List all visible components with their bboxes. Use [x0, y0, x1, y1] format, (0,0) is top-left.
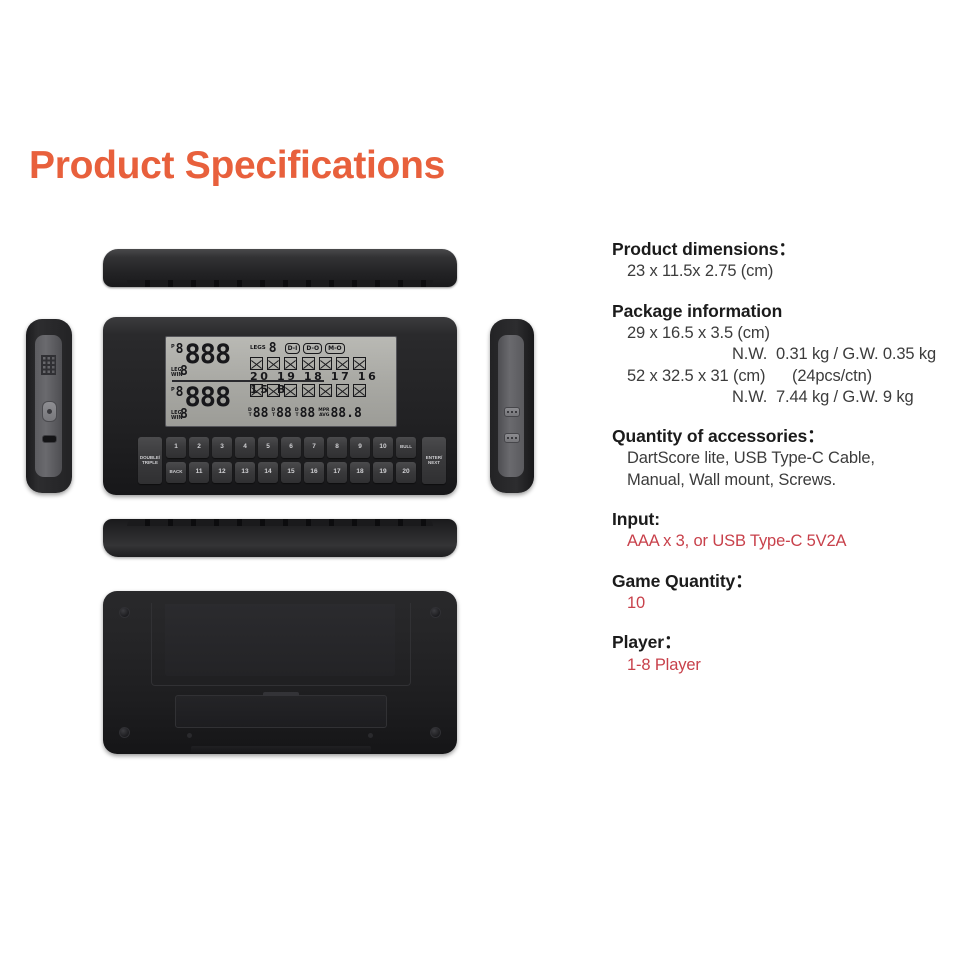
right-side-inset-panel: [498, 335, 524, 477]
lcd-mode-mo: M-O: [325, 343, 345, 354]
lcd-stat-2-value: 88: [276, 407, 292, 420]
lcd-stat-3-value: 88: [300, 407, 316, 420]
x-mark-icon: [284, 384, 297, 397]
device-image-gallery: P 8 888 LEG WIN 8 LEGS 8 D-I D-O M-O: [0, 0, 600, 960]
power-button: [42, 401, 57, 422]
lcd-mode-di: D-I: [285, 343, 301, 354]
key-16[interactable]: 16: [304, 462, 324, 483]
x-mark-icon: [336, 357, 349, 370]
x-mark-icon: [267, 384, 280, 397]
lcd-average: MPR AVG 88.8: [318, 407, 362, 420]
key-13[interactable]: 13: [235, 462, 255, 483]
lcd-stat-3-labels: D T: [295, 409, 299, 418]
x-mark-icon: [284, 357, 297, 370]
key-enter-next[interactable]: ENTER/ NEXT: [422, 437, 446, 484]
lcd-player2-legwin-value: 8: [180, 408, 188, 421]
x-mark-icon: [319, 384, 332, 397]
screw-icon: [430, 607, 441, 618]
key-19[interactable]: 19: [373, 462, 393, 483]
spec-heading: Quantity of accessories：: [612, 425, 960, 448]
lcd-player1-tag: P: [171, 345, 175, 350]
spec-heading: Product dimensions：: [612, 238, 960, 261]
lcd-legs-group: LEGS 8 D-I D-O M-O: [250, 342, 345, 355]
key-6[interactable]: 6: [281, 437, 301, 458]
key-18[interactable]: 18: [350, 462, 370, 483]
back-tab-icon: [368, 733, 373, 738]
spec-block: Player：1-8 Player: [612, 631, 960, 676]
spec-value: AAA x 3, or USB Type-C 5V2A: [612, 531, 960, 552]
lcd-num-17: 17: [331, 370, 352, 383]
lcd-player1-legwin-row: LEG WIN 8: [171, 365, 188, 379]
side-button-upper: [504, 407, 520, 417]
lcd-player2-score: 888: [185, 384, 231, 411]
spec-block: Quantity of accessories：DartScore lite, …: [612, 425, 960, 491]
key-15[interactable]: 15: [281, 462, 301, 483]
key-3[interactable]: 3: [212, 437, 232, 458]
side-button-lower: [504, 433, 520, 443]
key-4[interactable]: 4: [235, 437, 255, 458]
x-mark-icon: [250, 384, 263, 397]
lcd-stat-3: D T 88: [295, 407, 315, 420]
lcd-stat-1-value: 88: [253, 407, 269, 420]
lcd-average-value: 88.8: [330, 407, 361, 420]
lcd-average-labels: MPR AVG: [318, 409, 329, 418]
key-14[interactable]: 14: [258, 462, 278, 483]
key-5[interactable]: 5: [258, 437, 278, 458]
spec-value: N.W. 7.44 kg / G.W. 9 kg: [612, 387, 960, 408]
screw-icon: [119, 727, 130, 738]
left-side-inset-panel: [35, 335, 62, 477]
x-mark-icon: [336, 384, 349, 397]
x-mark-icon: [353, 357, 366, 370]
lcd-player1-legwin-value: 8: [180, 365, 188, 378]
spec-value: N.W. 0.31 kg / G.W. 0.35 kg: [612, 344, 960, 365]
key-back[interactable]: BACK: [166, 462, 186, 483]
spec-value: 10: [612, 593, 960, 614]
key-11[interactable]: 11: [189, 462, 209, 483]
lcd-stat-2-labels: D T: [271, 409, 275, 418]
x-mark-icon: [353, 384, 366, 397]
lcd-legs-value: 8: [269, 342, 277, 355]
x-mark-icon: [250, 357, 263, 370]
x-mark-icon: [302, 384, 315, 397]
key-10[interactable]: 10: [373, 437, 393, 458]
spec-value: 29 x 16.5 x 3.5 (cm): [612, 323, 960, 344]
back-tab-icon: [187, 733, 192, 738]
device-left-side-view: [26, 319, 72, 493]
spec-block: Input:AAA x 3, or USB Type-C 5V2A: [612, 508, 960, 553]
lcd-num-16: 16: [358, 370, 379, 383]
device-front-view: P 8 888 LEG WIN 8 LEGS 8 D-I D-O M-O: [103, 317, 457, 495]
lcd-player2-tag: P: [171, 388, 175, 393]
device-bottom-edge-view: [103, 519, 457, 557]
speaker-grille-icon: [41, 355, 56, 375]
wall-mount-slot: [191, 746, 371, 754]
lcd-stats-row: D T 88 D T 88 D T: [248, 407, 365, 420]
lcd-stat-1-label-bottom: T: [249, 413, 252, 418]
lcd-stat-2: D T 88: [271, 407, 291, 420]
spec-heading: Game Quantity：: [612, 570, 960, 593]
lcd-player2-number: 8: [176, 386, 184, 399]
screw-icon: [430, 727, 441, 738]
spec-value: 1-8 Player: [612, 655, 960, 676]
spec-block: Package information29 x 16.5 x 3.5 (cm)N…: [612, 300, 960, 409]
x-mark-icon: [302, 357, 315, 370]
button-texture-icon: [507, 411, 517, 413]
key-8[interactable]: 8: [327, 437, 347, 458]
spec-heading: Package information: [612, 300, 960, 323]
key-double-triple[interactable]: DOUBLE/ TRIPLE: [138, 437, 162, 484]
lcd-stat-3-label-bottom: T: [295, 413, 298, 418]
lcd-player2-legwin-row: LEG WIN 8: [171, 408, 188, 422]
lcd-screen: P 8 888 LEG WIN 8 LEGS 8 D-I D-O M-O: [165, 336, 397, 427]
spec-heading: Player：: [612, 631, 960, 654]
key-1[interactable]: 1: [166, 437, 186, 458]
lcd-player1-legwin-tag: LEG WIN: [171, 368, 180, 379]
lcd-xmark-row-bottom: [250, 384, 366, 397]
key-bull[interactable]: BULL: [396, 437, 416, 458]
lcd-player2-legwin-tag: LEG WIN: [171, 411, 180, 422]
device-back-view: [103, 591, 457, 754]
lcd-player1-number: 8: [176, 343, 184, 356]
usb-type-c-port-icon: [42, 435, 57, 443]
screw-icon: [119, 607, 130, 618]
key-17[interactable]: 17: [327, 462, 347, 483]
lcd-stat-1: D T 88: [248, 407, 268, 420]
lcd-mode-do: D-O: [303, 343, 322, 354]
bottom-edge-ribs: [127, 519, 433, 526]
spec-value: 23 x 11.5x 2.75 (cm): [612, 261, 960, 282]
key-9[interactable]: 9: [350, 437, 370, 458]
top-edge-ribs: [127, 280, 433, 287]
lcd-stat-1-labels: D T: [248, 409, 252, 418]
x-mark-icon: [319, 357, 332, 370]
spec-block: Game Quantity：10: [612, 570, 960, 615]
spec-value: 52 x 32.5 x 31 (cm) (24pcs/ctn): [612, 366, 960, 387]
spec-block: Product dimensions：23 x 11.5x 2.75 (cm): [612, 238, 960, 283]
key-12[interactable]: 12: [212, 462, 232, 483]
button-texture-icon: [507, 437, 517, 439]
lcd-average-label-bottom: AVG: [319, 413, 329, 418]
lcd-legs-label: LEGS: [250, 346, 266, 352]
lcd-stat-2-label-bottom: T: [272, 413, 275, 418]
specifications-list: Product dimensions：23 x 11.5x 2.75 (cm)P…: [612, 238, 960, 693]
x-mark-icon: [267, 357, 280, 370]
kickstand-panel: [165, 604, 395, 676]
lcd-xmark-row-top: [250, 357, 366, 370]
key-2[interactable]: 2: [189, 437, 209, 458]
device-right-side-view: [490, 319, 534, 493]
key-20[interactable]: 20: [396, 462, 416, 483]
device-keypad: DOUBLE/ TRIPLE 1 2 3 4 5 6 7 8 9 10 BULL…: [138, 437, 425, 487]
power-icon: [47, 409, 52, 414]
battery-compartment-door: [175, 695, 387, 728]
lcd-player1-score: 888: [185, 341, 231, 368]
key-7[interactable]: 7: [304, 437, 324, 458]
spec-value: DartScore lite, USB Type-C Cable,: [612, 448, 960, 469]
spec-value: Manual, Wall mount, Screws.: [612, 470, 960, 491]
device-top-edge-view: [103, 249, 457, 287]
battery-door-notch-icon: [263, 692, 299, 696]
spec-heading: Input:: [612, 508, 960, 531]
